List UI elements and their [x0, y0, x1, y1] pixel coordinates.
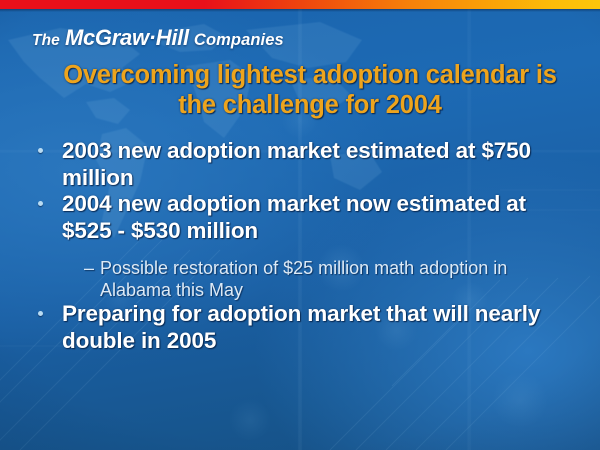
presentation-slide: The McGraw·Hill Companies Overcoming lig… — [0, 0, 600, 450]
bullet-group-2: 2004 new adoption market now estimated a… — [38, 191, 566, 301]
logo-name: McGraw·Hill — [65, 25, 189, 50]
logo-companies: Companies — [194, 31, 284, 49]
bullet-text: 2003 new adoption market estimated at $7… — [62, 138, 566, 191]
sub-bullet-text: Possible restoration of $25 million math… — [100, 257, 566, 301]
bullet-group-1: 2003 new adoption market estimated at $7… — [38, 138, 566, 191]
bullet-dot-icon — [38, 138, 62, 153]
bullet-text: 2004 new adoption market now estimated a… — [62, 191, 566, 244]
bullet-dot-icon — [38, 301, 62, 316]
bullet-group-3: Preparing for adoption market that will … — [38, 301, 566, 354]
list-item: 2004 new adoption market now estimated a… — [38, 191, 566, 244]
sub-list-item: – Possible restoration of $25 million ma… — [84, 257, 566, 301]
logo-the: The — [32, 32, 60, 49]
slide-body: 2003 new adoption market estimated at $7… — [38, 138, 566, 354]
slide-title: Overcoming lightest adoption calendar is… — [60, 60, 560, 120]
dash-marker-icon: – — [84, 257, 100, 279]
top-rule-shadow — [0, 9, 600, 12]
list-item: Preparing for adoption market that will … — [38, 301, 566, 354]
list-item: 2003 new adoption market estimated at $7… — [38, 138, 566, 191]
bullet-dot-icon — [38, 191, 62, 206]
top-gradient-rule — [0, 0, 600, 9]
mcgraw-hill-logo: The McGraw·Hill Companies — [32, 25, 284, 51]
bullet-text: Preparing for adoption market that will … — [62, 301, 566, 354]
